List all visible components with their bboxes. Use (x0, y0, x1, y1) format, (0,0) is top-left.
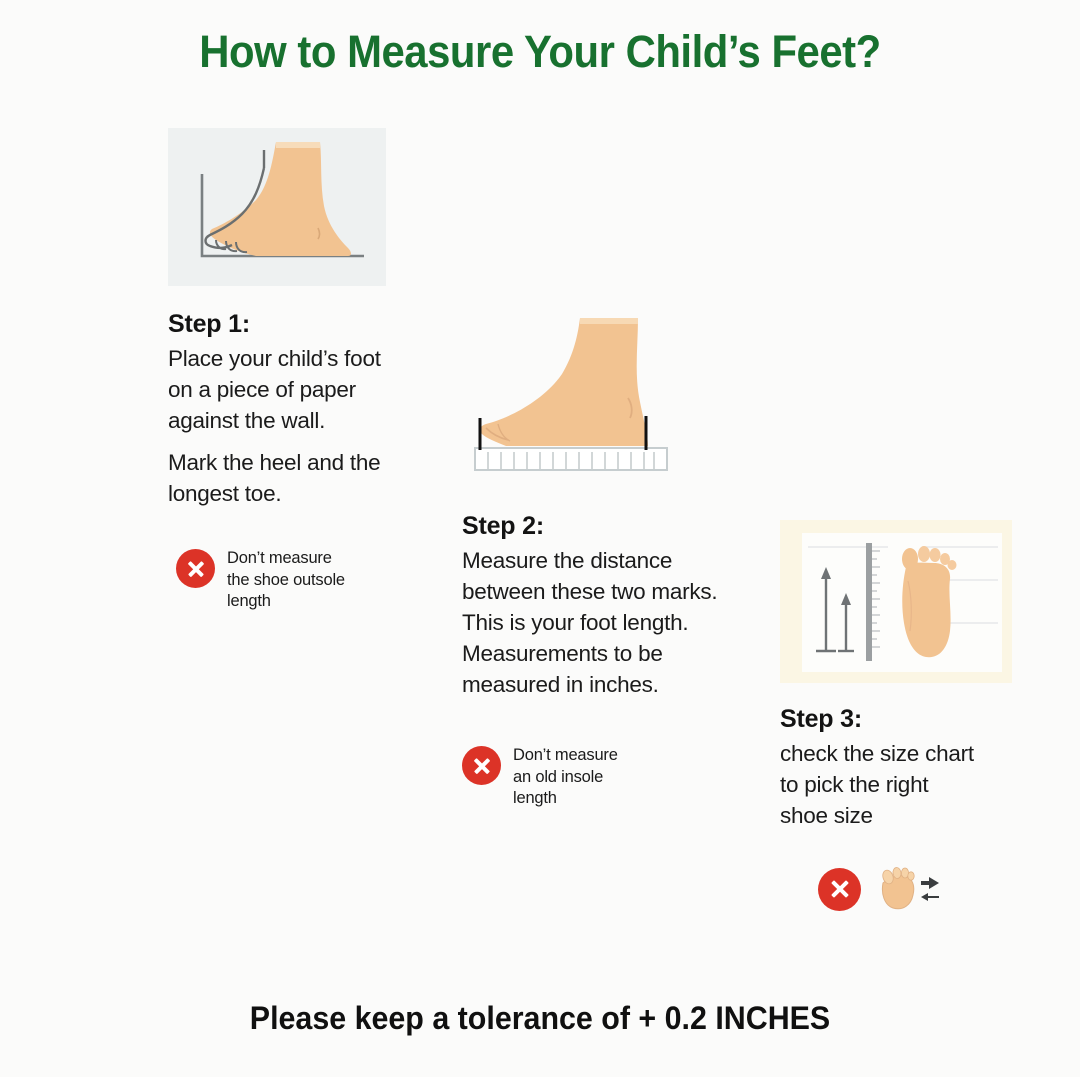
step-1-warning-text: Don’t measure the shoe outsole length (227, 547, 345, 612)
step-3-line-1: check the size chart (780, 738, 1030, 769)
step-2-text: Step 2: Measure the distance between the… (462, 512, 782, 700)
footprint-with-arrows-icon (873, 865, 941, 913)
page-title: How to Measure Your Child’s Feet? (38, 26, 1042, 78)
step-1-line-5: longest toe. (168, 478, 428, 509)
step-1-block: Step 1: Place your child’s foot on a pie… (168, 128, 428, 613)
step-2-line-1: Measure the distance (462, 545, 782, 576)
step-2-heading: Step 2: (462, 512, 782, 541)
step-3-illustration-card (802, 533, 1002, 672)
step-3-line-2: to pick the right (780, 769, 1030, 800)
step-2-line-5: measured in inches. (462, 669, 782, 700)
step-1-warning: Don’t measure the shoe outsole length (176, 547, 428, 612)
step-1-line-3: against the wall. (168, 405, 428, 436)
tolerance-note: Please keep a tolerance of + 0.2 INCHES (27, 1000, 1053, 1037)
step-2-illustration (462, 300, 692, 485)
step-3-text: Step 3: check the size chart to pick the… (780, 705, 1030, 831)
step-1-body: Place your child’s foot on a piece of pa… (168, 343, 428, 509)
step-1-warning-line-1: Don’t measure (227, 548, 345, 569)
step-1-line-1: Place your child’s foot (168, 343, 428, 374)
step-2-warning: Don’t measure an old insole length (462, 744, 782, 809)
step-1-line-2: on a piece of paper (168, 374, 428, 405)
step-1-text: Step 1: Place your child’s foot on a pie… (168, 310, 428, 509)
step-3-illustration (780, 520, 1012, 683)
step-2-warning-text: Don’t measure an old insole length (513, 744, 618, 809)
step-2-warning-line-2: an old insole (513, 767, 618, 788)
step-2-line-3: This is your foot length. (462, 607, 782, 638)
red-x-circle-icon (176, 549, 215, 588)
red-x-circle-icon (462, 746, 501, 785)
step-2-line-4: Measurements to be (462, 638, 782, 669)
step-2-block: Step 2: Measure the distance between the… (462, 300, 782, 810)
step-1-warning-line-2: the shoe outsole (227, 570, 345, 591)
step-1-heading: Step 1: (168, 310, 428, 339)
step-1-illustration (168, 128, 386, 286)
step-2-warning-line-3: length (513, 788, 618, 809)
step-1-warning-line-3: length (227, 591, 345, 612)
step-3-warning (818, 865, 1030, 913)
infographic-page: How to Measure Your Child’s Feet? (0, 0, 1080, 1077)
step-2-line-2: between these two marks. (462, 576, 782, 607)
step-1-line-4: Mark the heel and the (168, 447, 428, 478)
step-3-heading: Step 3: (780, 705, 1030, 734)
step-3-body: check the size chart to pick the right s… (780, 738, 1030, 831)
red-x-circle-icon (818, 868, 861, 911)
step-3-line-3: shoe size (780, 800, 1030, 831)
step-2-warning-line-1: Don’t measure (513, 745, 618, 766)
step-2-body: Measure the distance between these two m… (462, 545, 782, 700)
step-3-block: Step 3: check the size chart to pick the… (780, 520, 1030, 913)
